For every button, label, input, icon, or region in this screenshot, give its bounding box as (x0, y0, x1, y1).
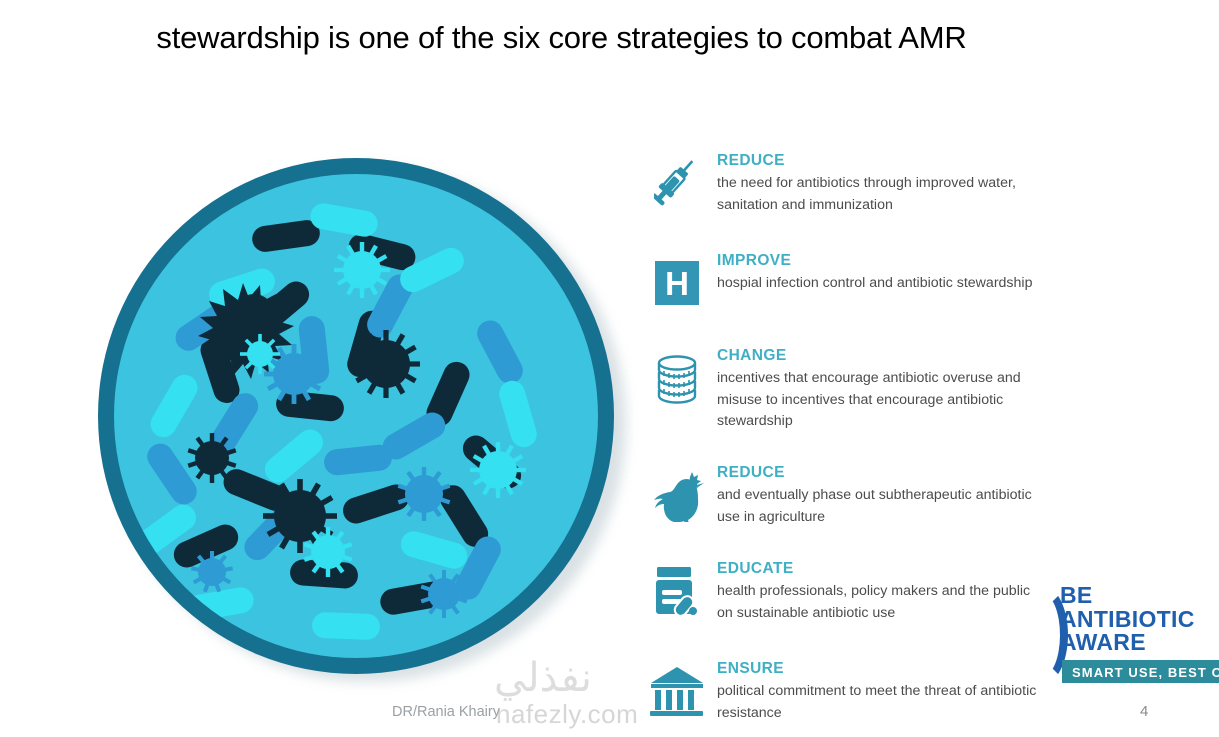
logo-line-antibiotic: ANTIBIOTIC (1060, 608, 1195, 632)
petri-dish-illustration (88, 150, 648, 720)
hospital-h-icon: H (648, 254, 706, 312)
page-title: stewardship is one of the six core strat… (148, 16, 1048, 60)
list-item-heading: IMPROVE (717, 252, 1045, 270)
list-item-change-incentives: CHANGE incentives that encourage antibio… (645, 347, 1045, 433)
list-item-reduce-antibiotics: REDUCE the need for antibiotics through … (645, 152, 1045, 216)
list-item-heading: REDUCE (717, 152, 1045, 170)
list-item-description: hospial infection control and antibiotic… (717, 273, 1045, 295)
list-item-description: incentives that encourage antibiotic ove… (717, 368, 1045, 433)
list-item-improve-infection-control: H IMPROVE hospial infection control and … (645, 252, 1045, 295)
author-credit: DR/Rania Khairy (392, 704, 500, 720)
list-item-ensure-commitment: ENSURE political commitment to meet the … (645, 660, 1045, 724)
bacteria-colony-svg (114, 174, 598, 658)
logo-wordmark: BE ANTIBIOTIC AWARE (1060, 584, 1195, 655)
hospital-h-glyph: H (655, 261, 699, 305)
logo-line-aware: AWARE (1060, 631, 1195, 655)
list-item-description: health professionals, policy makers and … (717, 581, 1045, 624)
chicken-icon (648, 466, 706, 524)
list-item-educate-public: EDUCATE health professionals, policy mak… (645, 560, 1045, 624)
list-item-heading: EDUCATE (717, 560, 1045, 578)
list-item-reduce-agriculture: REDUCE and eventually phase out subthera… (645, 464, 1045, 528)
pill-bottle-icon (648, 562, 706, 620)
petri-dish-agar (114, 174, 598, 658)
be-antibiotics-aware-logo: BE ANTIBIOTIC AWARE SMART USE, BEST CAR (1032, 578, 1219, 683)
list-item-description: the need for antibiotics through improve… (717, 173, 1045, 216)
logo-line-be: BE (1060, 584, 1195, 608)
logo-tagline: SMART USE, BEST CAR (1062, 660, 1219, 683)
bank-building-icon (648, 662, 706, 720)
list-item-heading: CHANGE (717, 347, 1045, 365)
list-item-heading: ENSURE (717, 660, 1045, 678)
list-item-description: and eventually phase out subtherapeutic … (717, 485, 1045, 528)
syringe-icon (648, 154, 706, 212)
page-number: 4 (1140, 703, 1148, 720)
coins-stack-icon (648, 349, 706, 407)
list-item-description: political commitment to meet the threat … (717, 681, 1045, 724)
list-item-heading: REDUCE (717, 464, 1045, 482)
